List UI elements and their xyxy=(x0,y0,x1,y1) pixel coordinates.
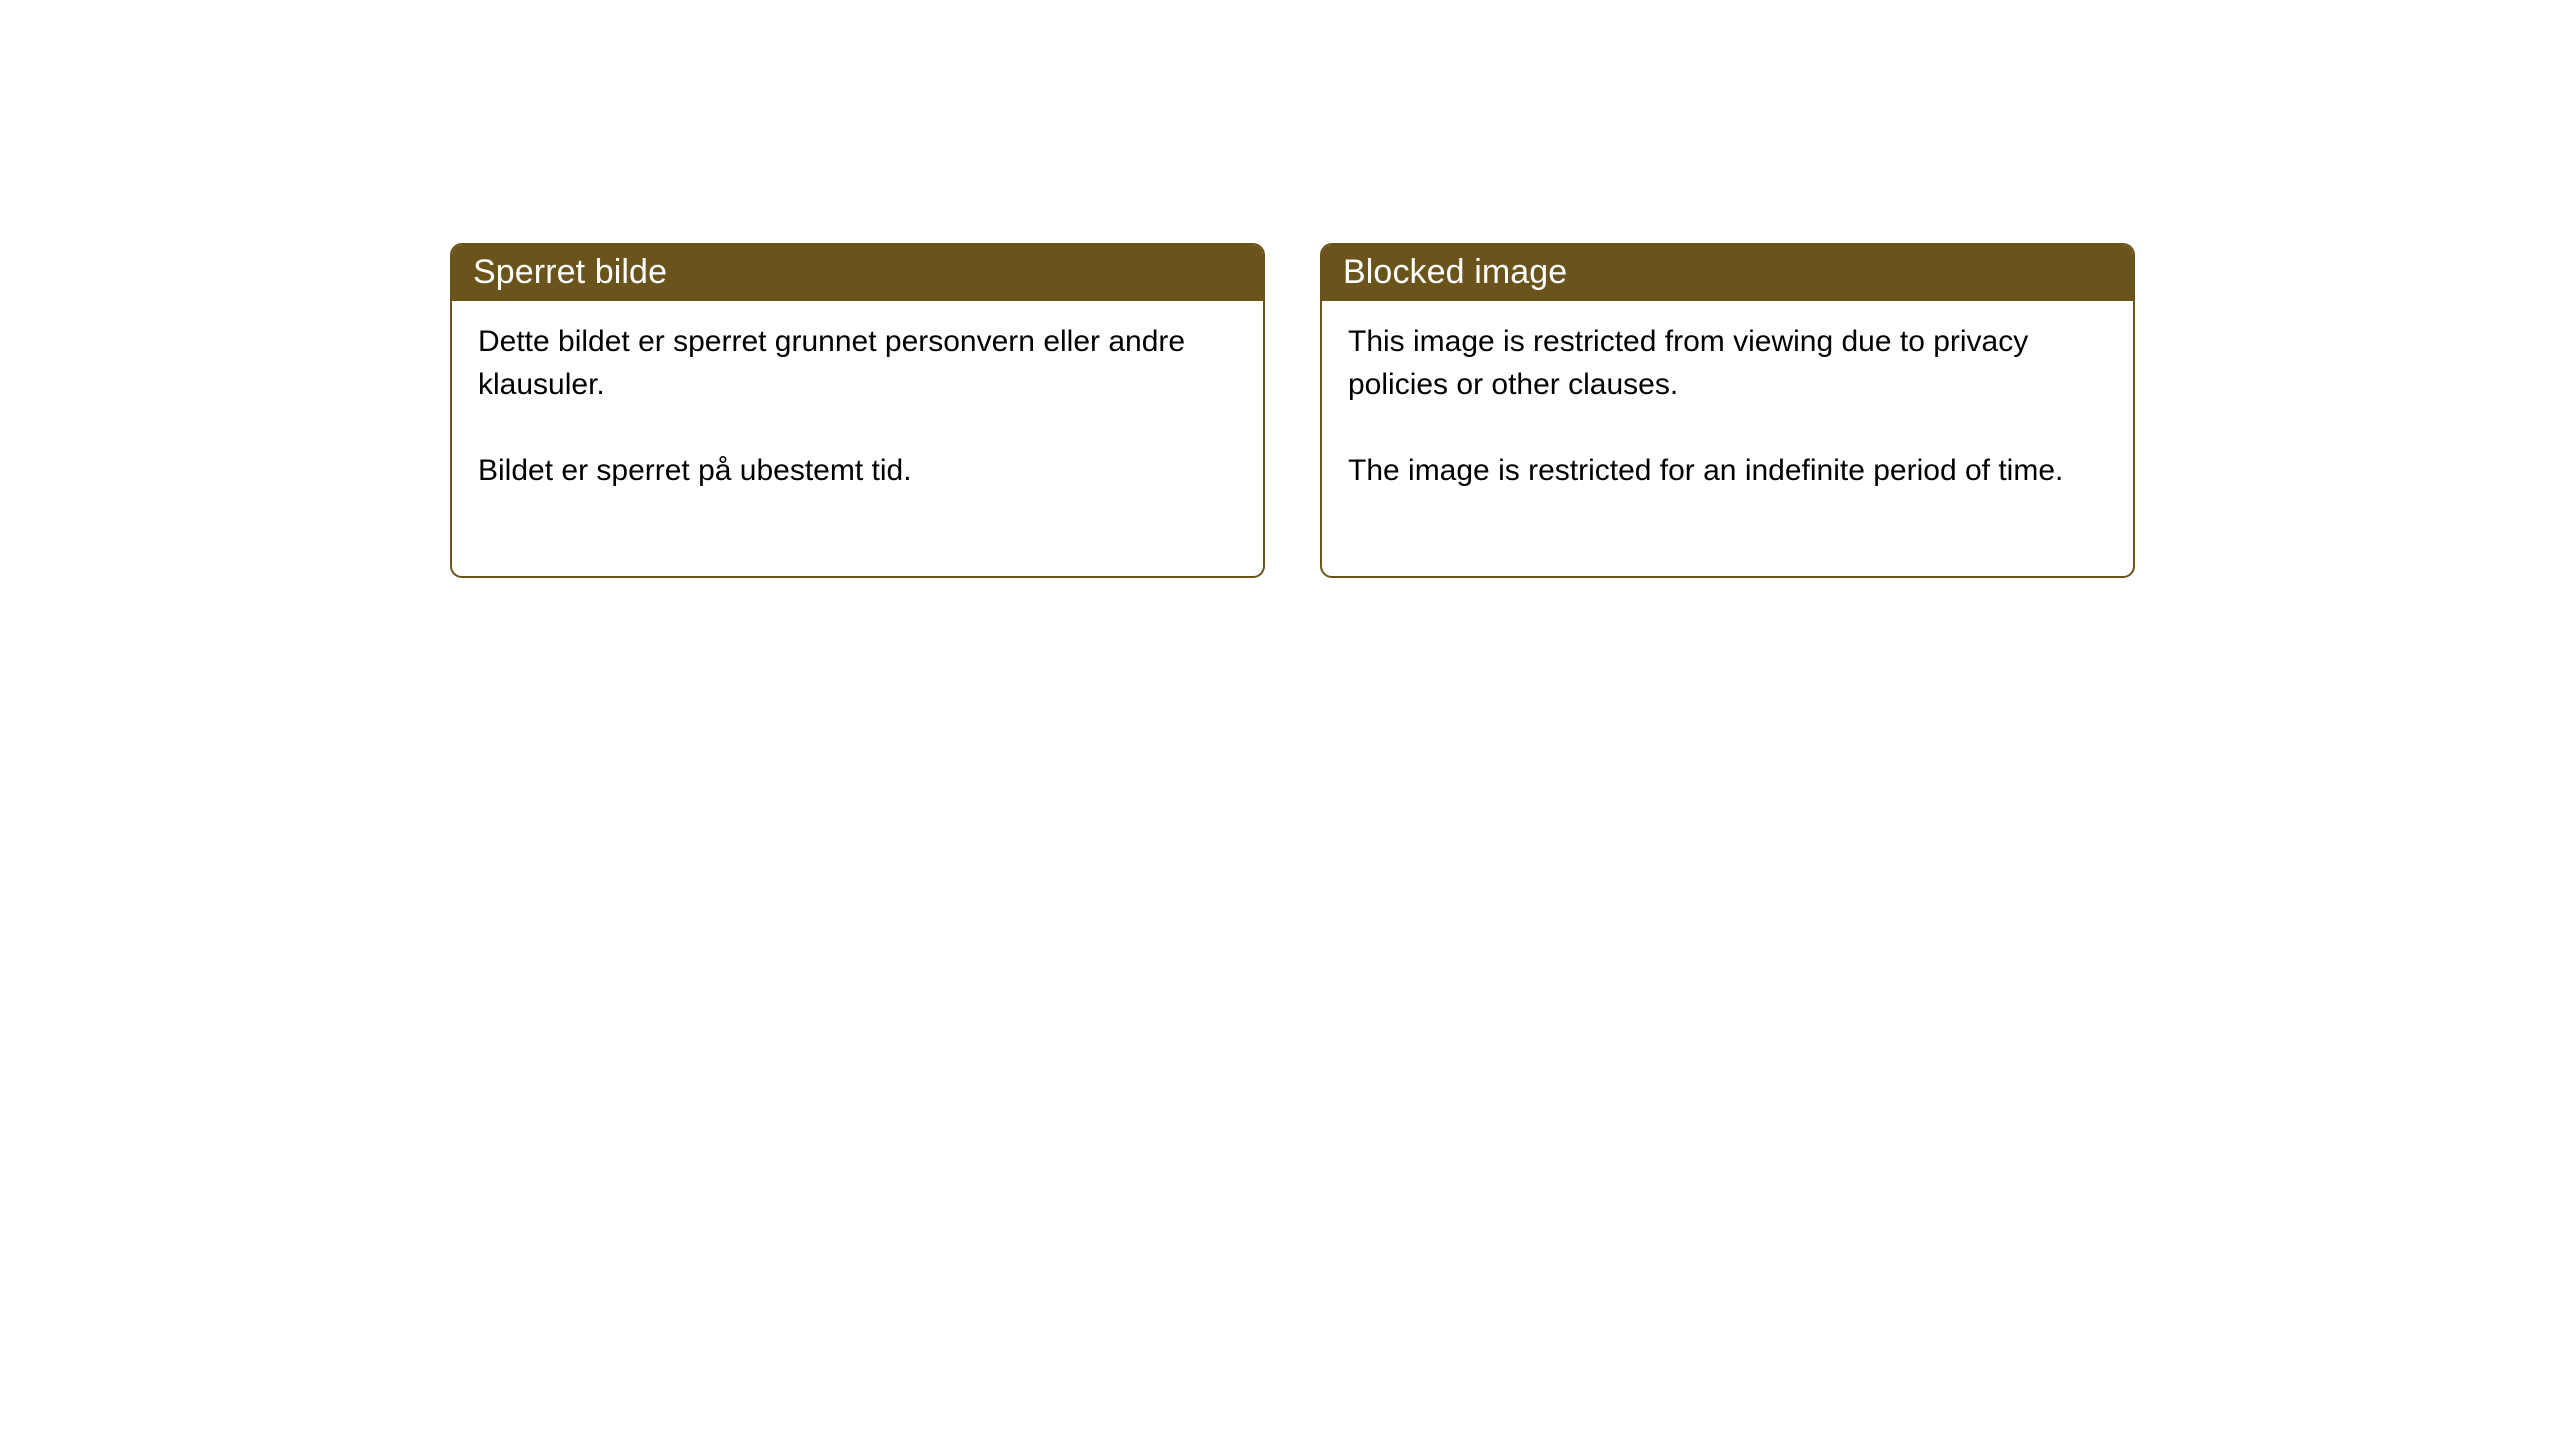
panel-paragraph-reason-english: This image is restricted from viewing du… xyxy=(1348,320,2107,406)
panel-paragraph-reason-norwegian: Dette bildet er sperret grunnet personve… xyxy=(478,320,1237,406)
panel-body-english: This image is restricted from viewing du… xyxy=(1322,301,2133,492)
panel-header-norwegian: Sperret bilde xyxy=(450,243,1265,301)
panel-paragraph-duration-norwegian: Bildet er sperret på ubestemt tid. xyxy=(478,449,1237,492)
panel-title-norwegian: Sperret bilde xyxy=(473,255,667,289)
blocked-image-notice-english: Blocked image This image is restricted f… xyxy=(1320,243,2135,578)
panel-paragraph-duration-english: The image is restricted for an indefinit… xyxy=(1348,449,2107,492)
panel-header-english: Blocked image xyxy=(1320,243,2135,301)
panel-title-english: Blocked image xyxy=(1343,255,1567,289)
page-canvas: Sperret bilde Dette bildet er sperret gr… xyxy=(0,0,2560,1440)
blocked-image-notice-norwegian: Sperret bilde Dette bildet er sperret gr… xyxy=(450,243,1265,578)
panel-body-norwegian: Dette bildet er sperret grunnet personve… xyxy=(452,301,1263,492)
